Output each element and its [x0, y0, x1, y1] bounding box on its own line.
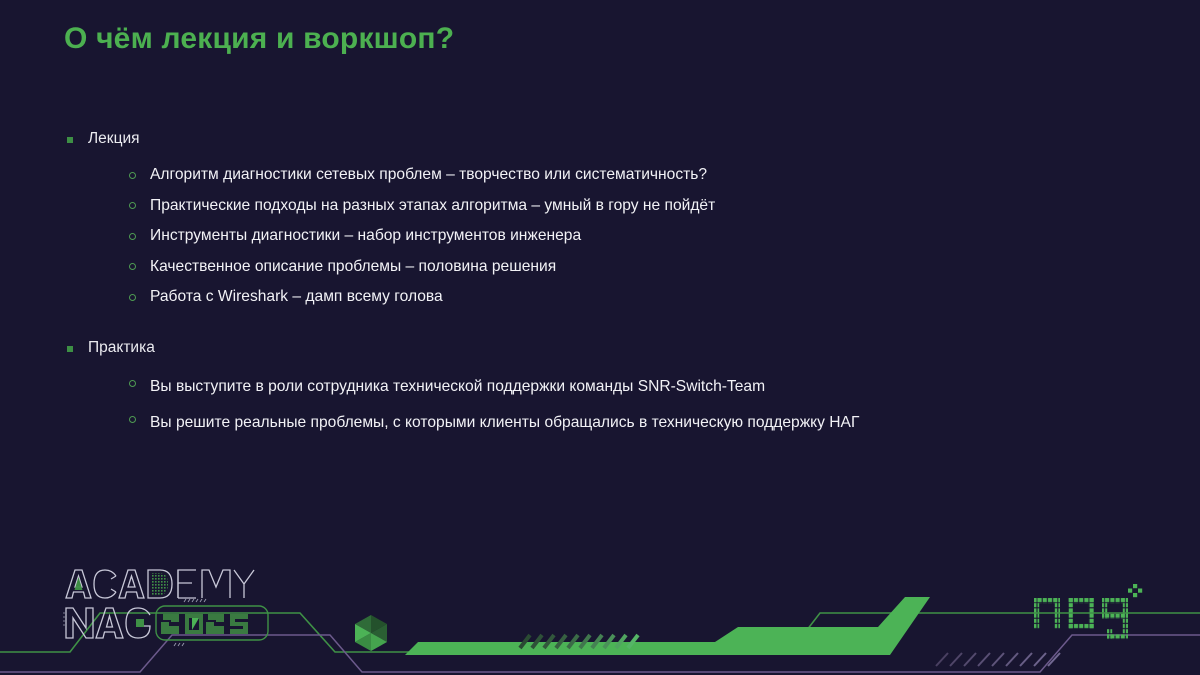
- page-title: О чём лекция и воркшоп?: [64, 22, 454, 56]
- list-item-label: Инструменты диагностики – набор инструме…: [150, 227, 581, 244]
- list-item-label: Качественное описание проблемы – половин…: [150, 258, 556, 275]
- list-item-label: Вы решите реальные проблемы, с которыми …: [150, 414, 859, 431]
- circle-bullet-icon: [129, 172, 136, 179]
- nag-g-fill: [136, 619, 144, 627]
- group-heading: Лекция: [0, 124, 1160, 154]
- circle-bullet-icon: [129, 233, 136, 240]
- list-item: Качественное описание проблемы – половин…: [0, 252, 1160, 283]
- list-item: Алгоритм диагностики сетевых проблем – т…: [0, 160, 1160, 191]
- circle-bullet-icon: [129, 294, 136, 301]
- group-heading-label: Практика: [88, 339, 155, 356]
- green-band: [405, 597, 930, 655]
- list-item: Работа с Wireshark – дамп всему голова: [0, 282, 1160, 313]
- sub-items: Алгоритм диагностики сетевых проблем – т…: [0, 160, 1160, 313]
- list-item-label: Работа с Wireshark – дамп всему голова: [150, 288, 443, 305]
- content-group: Практика Вы выступите в роли сотрудника …: [0, 333, 1160, 441]
- content-group: Лекция Алгоритм диагностики сетевых проб…: [0, 124, 1160, 313]
- circle-bullet-icon: [129, 416, 136, 423]
- academy-nag-logo: [62, 560, 272, 648]
- nag-wordmark-pixels: [1034, 598, 1128, 639]
- content-list: Лекция Алгоритм диагностики сетевых проб…: [0, 124, 1160, 443]
- list-item-label: Практические подходы на разных этапах ал…: [150, 197, 715, 214]
- pinwheel-icon: [355, 615, 387, 651]
- year-digits: [161, 614, 248, 634]
- nag-brand-logo: [1032, 582, 1148, 648]
- academy-d-fill: [151, 573, 168, 595]
- group-heading-label: Лекция: [88, 130, 140, 147]
- group-heading: Практика: [0, 333, 1160, 363]
- sub-items: Вы выступите в роли сотрудника техническ…: [0, 369, 1160, 441]
- circle-bullet-icon: [129, 263, 136, 270]
- slide-root: О чём лекция и воркшоп? Лекция Алгоритм …: [0, 0, 1200, 675]
- list-item: Инструменты диагностики – набор инструме…: [0, 221, 1160, 252]
- plus-dots-icon: [1128, 584, 1142, 597]
- square-bullet-icon: [67, 137, 73, 143]
- square-bullet-icon: [67, 346, 73, 352]
- list-item: Вы выступите в роли сотрудника техническ…: [0, 369, 1160, 405]
- list-item-label: Алгоритм диагностики сетевых проблем – т…: [150, 166, 707, 183]
- circle-bullet-icon: [129, 202, 136, 209]
- circle-bullet-icon: [129, 380, 136, 387]
- hash-marks-purple: [936, 653, 1060, 666]
- list-item: Вы решите реальные проблемы, с которыми …: [0, 405, 1160, 441]
- year-leaf-accent: [192, 618, 199, 630]
- list-item-label: Вы выступите в роли сотрудника техническ…: [150, 378, 765, 395]
- list-item: Практические подходы на разных этапах ал…: [0, 191, 1160, 222]
